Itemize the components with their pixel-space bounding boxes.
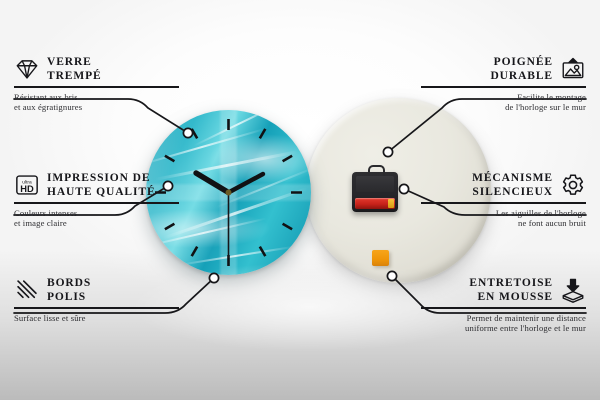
hanging-frame-icon: [560, 56, 586, 82]
feature-desc-line1: Surface lisse et sûre: [14, 313, 179, 324]
feature-title-line1: VERRE: [47, 55, 102, 69]
feature-desc-line2: de l'horloge sur le mur: [421, 102, 586, 113]
feature-divider: [14, 202, 179, 204]
feature-title-line2: POLIS: [47, 290, 91, 304]
feature-divider: [14, 86, 179, 88]
gear-icon: [560, 172, 586, 198]
infographic-stage: VERRE TREMPÉ Résistant aux bris et aux é…: [0, 0, 600, 400]
feature-header: ENTRETOISE EN MOUSSE: [421, 276, 586, 304]
feature-desc-line2: ne font aucun bruit: [421, 218, 586, 229]
feature-title-line2: EN MOUSSE: [469, 290, 553, 304]
feature-divider: [421, 307, 586, 309]
arrow-onto-foam-icon: [560, 277, 586, 303]
feature-title-line1: ENTRETOISE: [469, 276, 553, 290]
feature-desc-line1: Couleurs intenses: [14, 208, 179, 219]
feature-desc-line2: et image claire: [14, 218, 179, 229]
feature-title-line1: POIGNÉE: [490, 55, 553, 69]
feature-title-line2: TREMPÉ: [47, 69, 102, 83]
feature-title-line1: MÉCANISME: [472, 171, 553, 185]
ultra-hd-main-text: HD: [20, 184, 34, 194]
feature-header: MÉCANISME SILENCIEUX: [421, 171, 586, 199]
feature-title-line2: SILENCIEUX: [472, 185, 553, 199]
feature-desc-line1: Les aiguilles de l'horloge: [421, 208, 586, 219]
feature-desc-line1: Permet de maintenir une distance: [421, 313, 586, 324]
feature-title-line2: HAUTE QUALITÉ: [47, 185, 156, 199]
feature-desc-line2: uniforme entre l'horloge et le mur: [421, 323, 586, 334]
feature-entretoise-en-mousse: ENTRETOISE EN MOUSSE Permet de maintenir…: [421, 276, 586, 334]
feature-title-line1: BORDS: [47, 276, 91, 290]
diagonal-stripes-icon: [14, 277, 40, 303]
feature-divider: [14, 307, 179, 309]
diamond-icon: [14, 56, 40, 82]
feature-title-line2: DURABLE: [490, 69, 553, 83]
feature-header: VERRE TREMPÉ: [14, 55, 179, 83]
feature-divider: [421, 202, 586, 204]
feature-mecanisme-silencieux: MÉCANISME SILENCIEUX Les aiguilles de l'…: [421, 171, 586, 229]
feature-bords-polis: BORDS POLIS Surface lisse et sûre: [14, 276, 179, 323]
feature-title-line1: IMPRESSION DE: [47, 171, 156, 185]
feature-desc-line2: et aux égratignures: [14, 102, 179, 113]
ultra-hd-badge-icon: ultra HD: [14, 172, 40, 198]
feature-desc-line1: Facilite le montage: [421, 92, 586, 103]
feature-header: BORDS POLIS: [14, 276, 179, 304]
feature-impression-haute-qualite: ultra HD IMPRESSION DE HAUTE QUALITÉ Cou…: [14, 171, 179, 229]
feature-desc-line1: Résistant aux bris: [14, 92, 179, 103]
feature-verre-trempe: VERRE TREMPÉ Résistant aux bris et aux é…: [14, 55, 179, 113]
feature-header: POIGNÉE DURABLE: [421, 55, 586, 83]
feature-poignee-durable: POIGNÉE DURABLE Facilite le montage de l…: [421, 55, 586, 113]
feature-divider: [421, 86, 586, 88]
feature-header: ultra HD IMPRESSION DE HAUTE QUALITÉ: [14, 171, 179, 199]
